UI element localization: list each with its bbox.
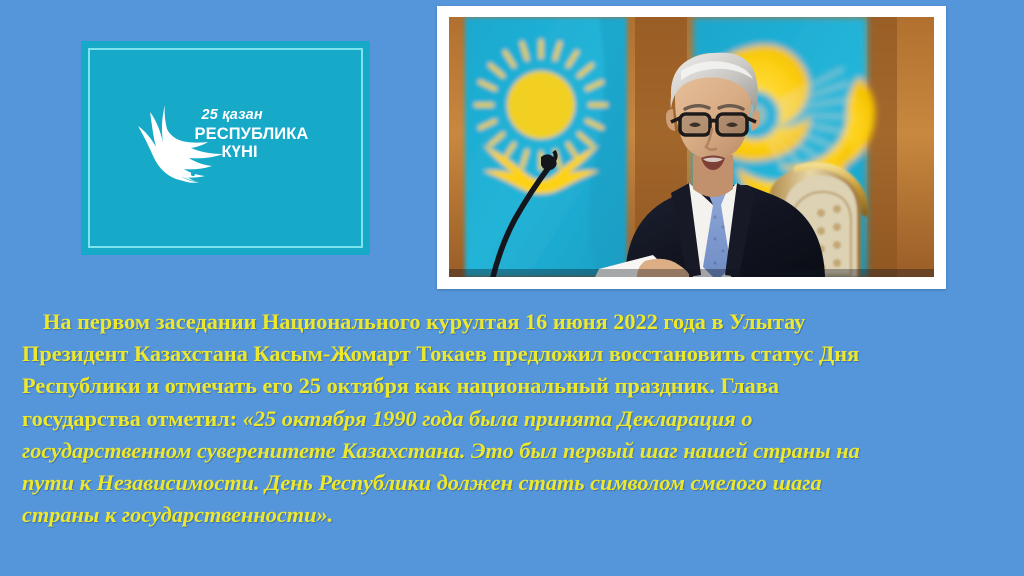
body-line-1: На первом заседании Национального курулт… bbox=[22, 306, 1008, 338]
body-line-5: государственном суверенитете Казахстана.… bbox=[22, 435, 1008, 467]
logo-date-line: 25 қазан bbox=[202, 108, 325, 123]
body-line-4-lead: государства отметил: bbox=[22, 406, 243, 431]
body-line-6: пути к Независимости. День Республики до… bbox=[22, 467, 1008, 499]
quote-opening: «25 октября 1990 года была принята Декла… bbox=[243, 406, 753, 431]
president-photo bbox=[449, 17, 934, 277]
logo-mark: 25 қазан РЕСПУБЛИКА КҮНІ bbox=[81, 41, 370, 255]
logo-text-block: 25 қазан РЕСПУБЛИКА КҮНІ bbox=[195, 108, 325, 161]
slide-canvas: 25 қазан РЕСПУБЛИКА КҮНІ bbox=[0, 0, 1024, 576]
body-line-2: Президент Казахстана Касым-Жомарт Токаев… bbox=[22, 338, 1008, 370]
republic-day-logo-card: 25 қазан РЕСПУБЛИКА КҮНІ bbox=[81, 41, 370, 255]
slide-body-text: На первом заседании Национального курулт… bbox=[22, 306, 1008, 531]
body-line-7: страны к государственности». bbox=[22, 499, 1008, 531]
body-line-3: Республики и отмечать его 25 октября как… bbox=[22, 370, 1008, 402]
president-photo-frame bbox=[437, 6, 946, 289]
body-line-4: государства отметил: «25 октября 1990 го… bbox=[22, 403, 1008, 435]
logo-sub-line: КҮНІ bbox=[222, 144, 325, 161]
logo-main-line: РЕСПУБЛИКА bbox=[195, 126, 325, 143]
